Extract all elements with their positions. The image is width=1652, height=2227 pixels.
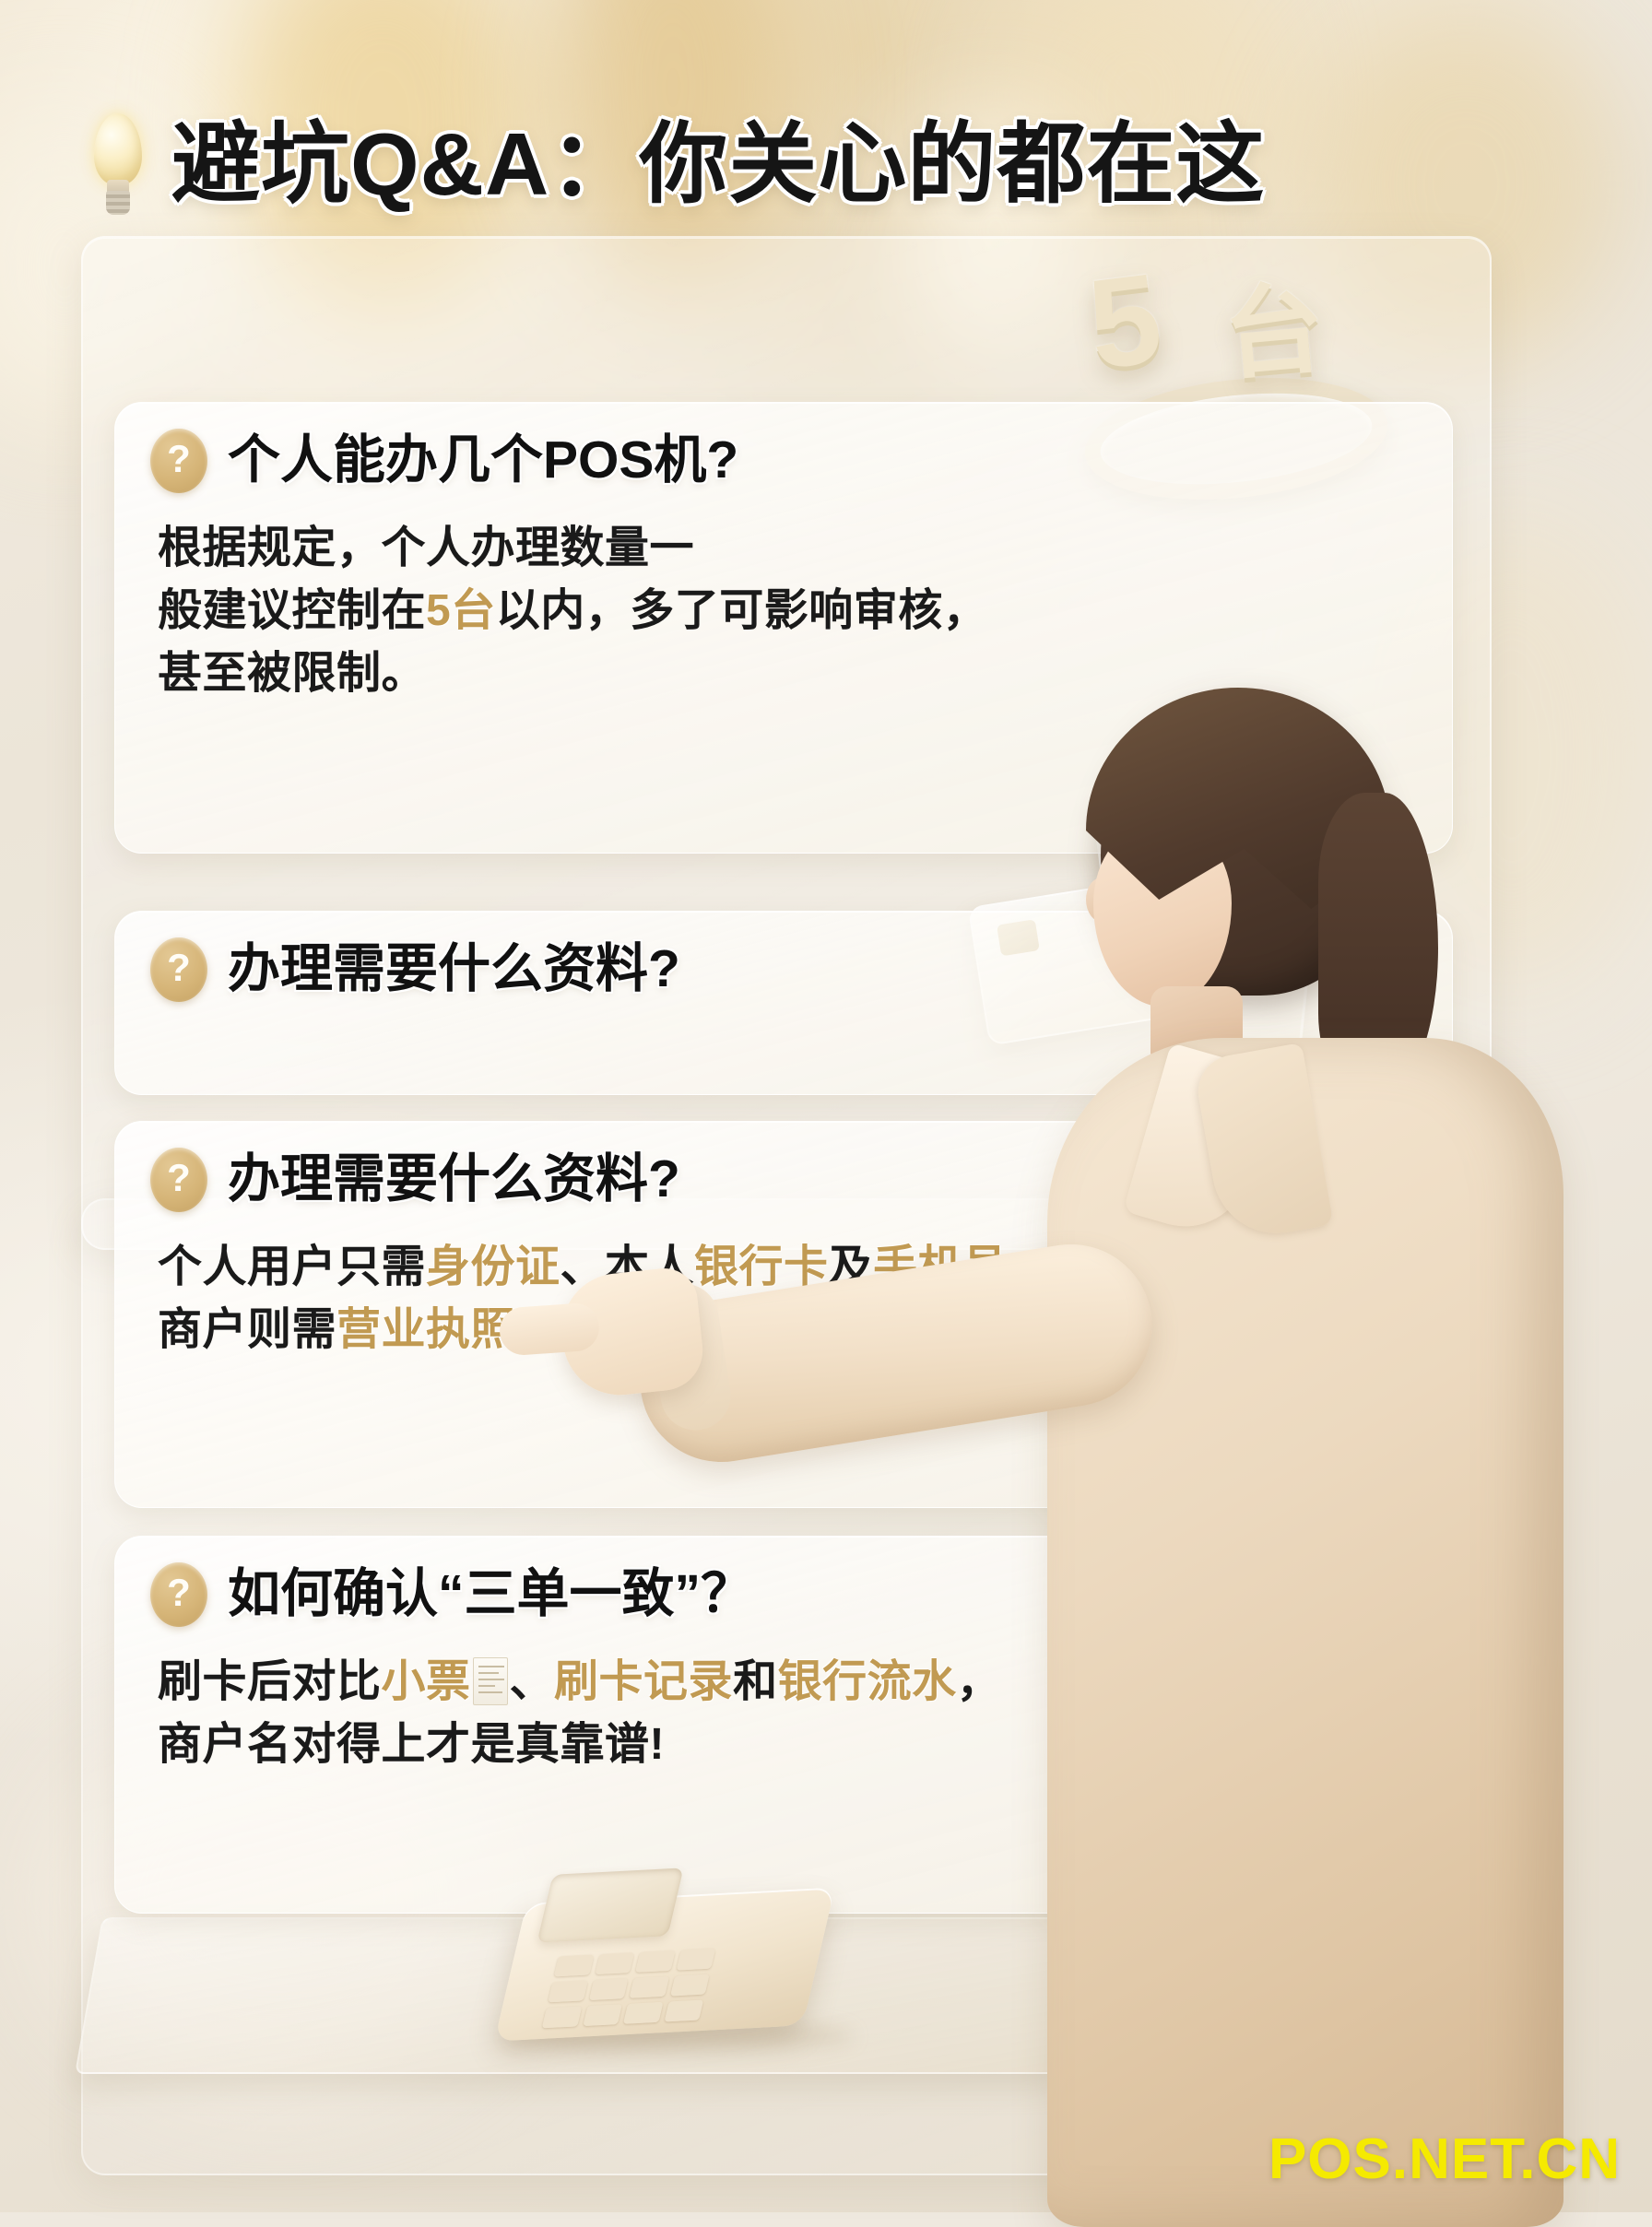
- five-units-number: 5: [1082, 254, 1168, 389]
- highlight-term: 小票: [382, 1657, 471, 1706]
- page-title: 避坑Q&A：你关心的都在这: [88, 96, 1287, 234]
- answer-run: 根据规定，个人办理数量一: [158, 524, 694, 572]
- highlight-term: 刷卡记录: [554, 1657, 733, 1706]
- question-title: 办理需要什么资料?: [228, 940, 680, 999]
- question-mark-icon: ?: [150, 937, 207, 1002]
- question-title: 如何确认“三单一致”？: [228, 1565, 753, 1624]
- five-units-unit: 台: [1220, 277, 1327, 385]
- pointing-finger: [498, 1302, 600, 1356]
- receipt-icon: [473, 1657, 508, 1705]
- question-title: 办理需要什么资料?: [228, 1150, 680, 1209]
- highlight-term: 营业执照: [336, 1305, 515, 1354]
- answer-run: 和: [733, 1657, 778, 1706]
- question-mark-icon: ?: [150, 1148, 207, 1212]
- highlight-term: 身份证: [426, 1243, 560, 1291]
- pos-terminal-icon: [513, 1858, 891, 2061]
- answer-run: 刷卡后对比: [158, 1657, 382, 1706]
- question-row: ? 个人能办几个POS机?: [150, 429, 1417, 493]
- answer-run: 以内，多了可影响审核，: [496, 586, 988, 635]
- answer-run: 甚至被限制。: [158, 649, 426, 698]
- answer-run: 商户则需: [158, 1305, 336, 1354]
- answer-text: 根据规定，个人办理数量一般建议控制在5台以内，多了可影响审核，甚至被限制。: [158, 517, 1417, 705]
- highlight-term: 银行流水: [778, 1657, 957, 1706]
- page-title-text: 避坑Q&A：你关心的都在这: [171, 121, 1265, 209]
- lightbulb-icon: [88, 113, 147, 217]
- poster-background: 避坑Q&A：你关心的都在这 5 台 ? 个人能办几个POS机? 根据规定，个人办…: [0, 0, 1652, 2212]
- highlight-term: 5台: [426, 586, 496, 635]
- question-mark-icon: ?: [150, 1562, 207, 1627]
- answer-run: 商户名对得上才是真靠谱!: [158, 1720, 665, 1769]
- answer-run: 个人用户只需: [158, 1243, 426, 1291]
- answer-run: 、: [510, 1657, 555, 1706]
- question-mark-icon: ?: [150, 429, 207, 493]
- question-title: 个人能办几个POS机?: [228, 431, 738, 490]
- person-3d-illustration: [931, 682, 1652, 2212]
- answer-line: 根据规定，个人办理数量一: [158, 517, 1417, 580]
- answer-line: 般建议控制在5台以内，多了可影响审核，: [158, 580, 1417, 642]
- site-watermark: POS.NET.CN: [1268, 2131, 1621, 2188]
- answer-run: 般建议控制在: [158, 586, 426, 635]
